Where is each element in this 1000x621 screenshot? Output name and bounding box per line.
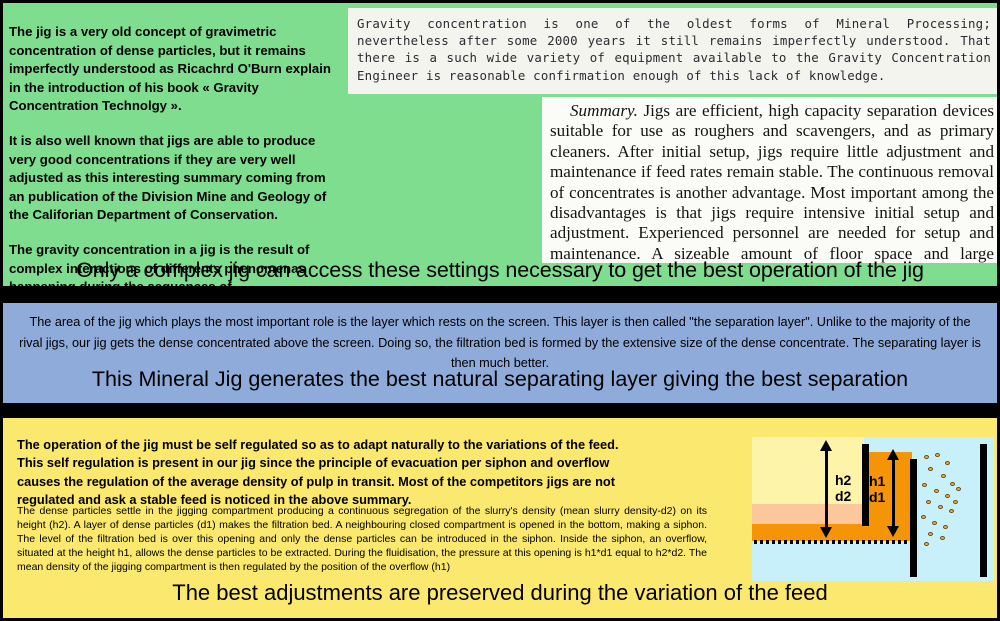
- diagram-arrow-h2: [825, 450, 828, 528]
- diagram-dense-particle: [949, 509, 954, 513]
- diagram-dense-particle: [956, 487, 961, 491]
- diagram-dense-particle: [926, 500, 931, 504]
- diagram-dense-particle: [945, 494, 950, 498]
- diagram-dense-particle: [945, 461, 950, 465]
- diagram-label-h1: h1: [869, 473, 885, 489]
- jig-schematic-diagram: h2 d2 h1 d1: [752, 437, 994, 581]
- summary-body: Jigs are efficient, high capacity separa…: [550, 101, 994, 263]
- diagram-dense-particle: [924, 542, 929, 546]
- diagram-label-h2: h2: [835, 472, 851, 488]
- diagram-wall-middle: [910, 459, 917, 577]
- diagram-dense-particle: [935, 453, 940, 457]
- summary-paragraph: Summary. Jigs are efficient, high capaci…: [550, 101, 994, 263]
- diagram-dense-particle: [943, 525, 948, 529]
- summary-heading: Summary.: [570, 101, 638, 120]
- yellow-headline: The best adjustments are preserved durin…: [3, 580, 997, 606]
- yellow-detail-paragraph: The dense particles settle in the jiggin…: [17, 504, 707, 574]
- yellow-main-paragraph: The operation of the jig must be self re…: [17, 436, 637, 510]
- diagram-slurry-mid-layer: [752, 504, 864, 524]
- diagram-dense-bed-layer: [752, 524, 864, 541]
- diagram-dense-particle: [953, 500, 958, 504]
- diagram-dense-particle: [932, 521, 937, 525]
- diagram-dense-particle: [921, 515, 926, 519]
- diagram-wall-right: [980, 444, 987, 577]
- green-section: The jig is a very old concept of gravime…: [3, 3, 997, 286]
- diagram-label-d2: d2: [835, 488, 851, 504]
- diagram-screen-mesh: [754, 540, 912, 544]
- diagram-label-h1-d1: h1 d1: [869, 473, 885, 505]
- diagram-dense-particle: [922, 483, 927, 487]
- green-headline: Only a complex jig can access these sett…: [3, 258, 997, 283]
- blue-section: The area of the jig which plays the most…: [3, 303, 997, 403]
- blue-headline: This Mineral Jig generates the best natu…: [3, 367, 997, 392]
- summary-excerpt-box: Summary. Jigs are efficient, high capaci…: [542, 97, 997, 263]
- diagram-dense-particle: [928, 532, 933, 536]
- diagram-dense-particle: [941, 474, 946, 478]
- green-paragraph-2: It is also well known that jigs are able…: [9, 132, 339, 225]
- diagram-dense-particle: [924, 455, 929, 459]
- blue-paragraph: The area of the jig which plays the most…: [19, 312, 981, 374]
- diagram-label-h2-d2: h2 d2: [835, 472, 851, 504]
- diagram-dense-particle: [940, 536, 945, 540]
- diagram-arrow-h1: [892, 459, 895, 527]
- gravity-concentration-quote-box: Gravity concentration is one of the olde…: [348, 8, 997, 94]
- diagram-dense-particle: [928, 467, 933, 471]
- quote-text: Gravity concentration is one of the olde…: [357, 15, 991, 84]
- green-left-text-block: The jig is a very old concept of gravime…: [9, 23, 339, 286]
- diagram-wall-inner: [862, 444, 869, 526]
- diagram-dense-particle: [938, 505, 943, 509]
- diagram-dense-particle: [934, 489, 939, 493]
- slide-page: The jig is a very old concept of gravime…: [0, 0, 1000, 621]
- green-paragraph-1: The jig is a very old concept of gravime…: [9, 23, 339, 116]
- diagram-label-d1: d1: [869, 489, 885, 505]
- diagram-dense-particle: [950, 482, 955, 486]
